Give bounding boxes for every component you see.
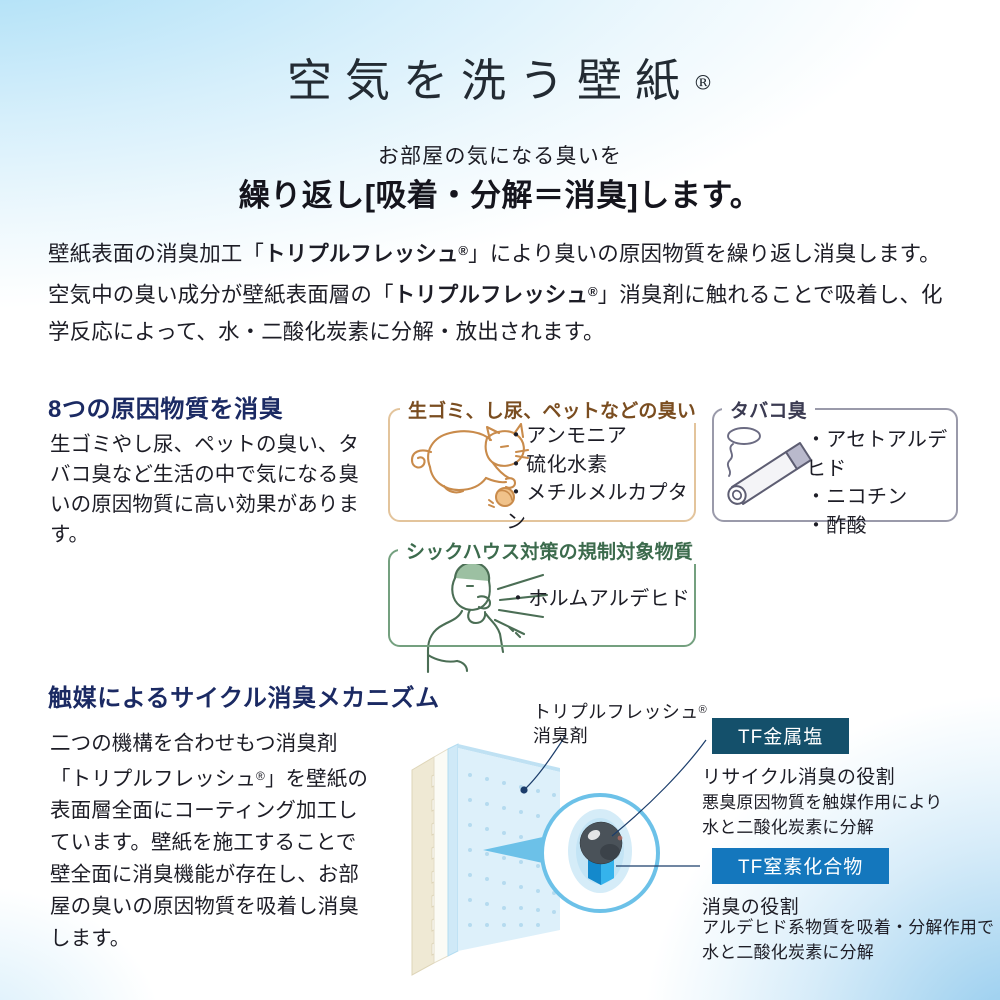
odor-box-tabako-legend: タバコ臭 (722, 396, 815, 423)
section2-paragraph: 二つの機構を合わせもつ消臭剤「トリプルフレッシュ®」を壁紙の表面層全面にコーティ… (50, 728, 372, 955)
section1-heading: 8つの原因物質を消臭 (48, 389, 283, 424)
tf-nitrogen-compound-description: アルデヒド系物質を吸着・分解作用で 水と二酸化炭素に分解 (702, 915, 994, 965)
intro-paragraph: 壁紙表面の消臭加工「トリプルフレッシュ®」により臭いの原因物質を繰り返し消臭しま… (48, 232, 954, 351)
list-item: ・アセトアルデヒド (806, 426, 956, 483)
list-item: ・酢酸 (806, 512, 956, 541)
diagram-callout-line2: 消臭剤 (533, 724, 707, 748)
section2-heading: 触媒によるサイクル消臭メカニズム (48, 678, 440, 713)
list-item: ・ホルムアルデヒド (508, 585, 690, 614)
odor-box-sick-house-items: ・ホルムアルデヒド (508, 585, 690, 614)
subtitle-line-1: お部屋の気になる臭いを (0, 140, 1000, 170)
leader-dot-surface (520, 786, 527, 793)
tf-metal-salt-role: リサイクル消臭の役割 (702, 762, 895, 789)
diagram-callout-label: トリプルフレッシュ® 消臭剤 (533, 698, 707, 748)
intro-reg-2: ® (588, 284, 598, 299)
list-item: ・メチルメルカプタン (506, 479, 694, 536)
list-item: ・アンモニア (506, 422, 694, 451)
list-item: ・ニコチン (806, 483, 956, 512)
tf-nitrogen-compound-desc-line2: 水と二酸化炭素に分解 (702, 940, 994, 965)
subtitle-line-2: 繰り返し[吸着・分解＝消臭]します。 (0, 170, 1000, 215)
status-badge-tf-nitrogen-compound: TF窒素化合物 (712, 848, 889, 884)
tf-nitrogen-compound-desc-line1: アルデヒド系物質を吸着・分解作用で (702, 915, 994, 940)
list-item: ・硫化水素 (506, 451, 694, 480)
diagram-callout-brand: トリプルフレッシュ (533, 702, 699, 722)
status-badge-tf-metal-salt: TF金属塩 (712, 718, 849, 754)
section2-paragraph-reg: ® (256, 769, 265, 783)
intro-brand-1: トリプルフレッシュ (264, 242, 458, 266)
infographic-page: 空気を洗う壁紙® お部屋の気になる臭いを 繰り返し[吸着・分解＝消臭]します。 … (0, 0, 1000, 1000)
odor-box-sick-house-legend: シックハウス対策の規制対象物質 (398, 537, 701, 564)
tf-metal-salt-desc-line1: 悪臭原因物質を触媒作用により (702, 790, 942, 815)
registered-mark: ® (693, 71, 713, 95)
page-title: 空気を洗う壁紙® (0, 44, 1000, 109)
intro-brand-2: トリプルフレッシュ (394, 283, 588, 307)
odor-box-sick-house: シックハウス対策の規制対象物質 ・ホルムアルデヒド (388, 549, 696, 647)
odor-box-nama-gomi-legend: 生ゴミ、し尿、ペットなどの臭い (400, 396, 704, 423)
diagram-callout-line1: トリプルフレッシュ® (533, 698, 707, 724)
diagram-callout-reg: ® (699, 704, 708, 716)
odor-box-nama-gomi: 生ゴミ、し尿、ペットなどの臭い ・アンモニア ・硫化水素 ・メチルメルカプタン … (388, 408, 696, 522)
intro-seg-1: 壁紙表面の消臭加工「 (48, 242, 264, 266)
page-title-text: 空気を洗う壁紙 (287, 54, 693, 107)
tf-metal-salt-desc-line2: 水と二酸化炭素に分解 (702, 815, 942, 840)
section2-paragraph-b: 」を壁紙の表面層全面にコーティング加工しています。壁紙を施工することで壁全面に消… (50, 767, 368, 950)
tf-metal-salt-description: 悪臭原因物質を触媒作用により 水と二酸化炭素に分解 (702, 790, 942, 840)
section1-paragraph: 生ゴミやし尿、ペットの臭い、タバコ臭など生活の中で気になる臭いの原因物質に高い効… (50, 430, 362, 550)
odor-box-tabako-items: ・アセトアルデヒド ・ニコチン ・酢酸 (806, 426, 956, 540)
intro-reg-1: ® (458, 243, 468, 258)
odor-box-tabako: タバコ臭 ・アセトアルデヒド ・ニコチン ・酢酸 (712, 408, 958, 522)
